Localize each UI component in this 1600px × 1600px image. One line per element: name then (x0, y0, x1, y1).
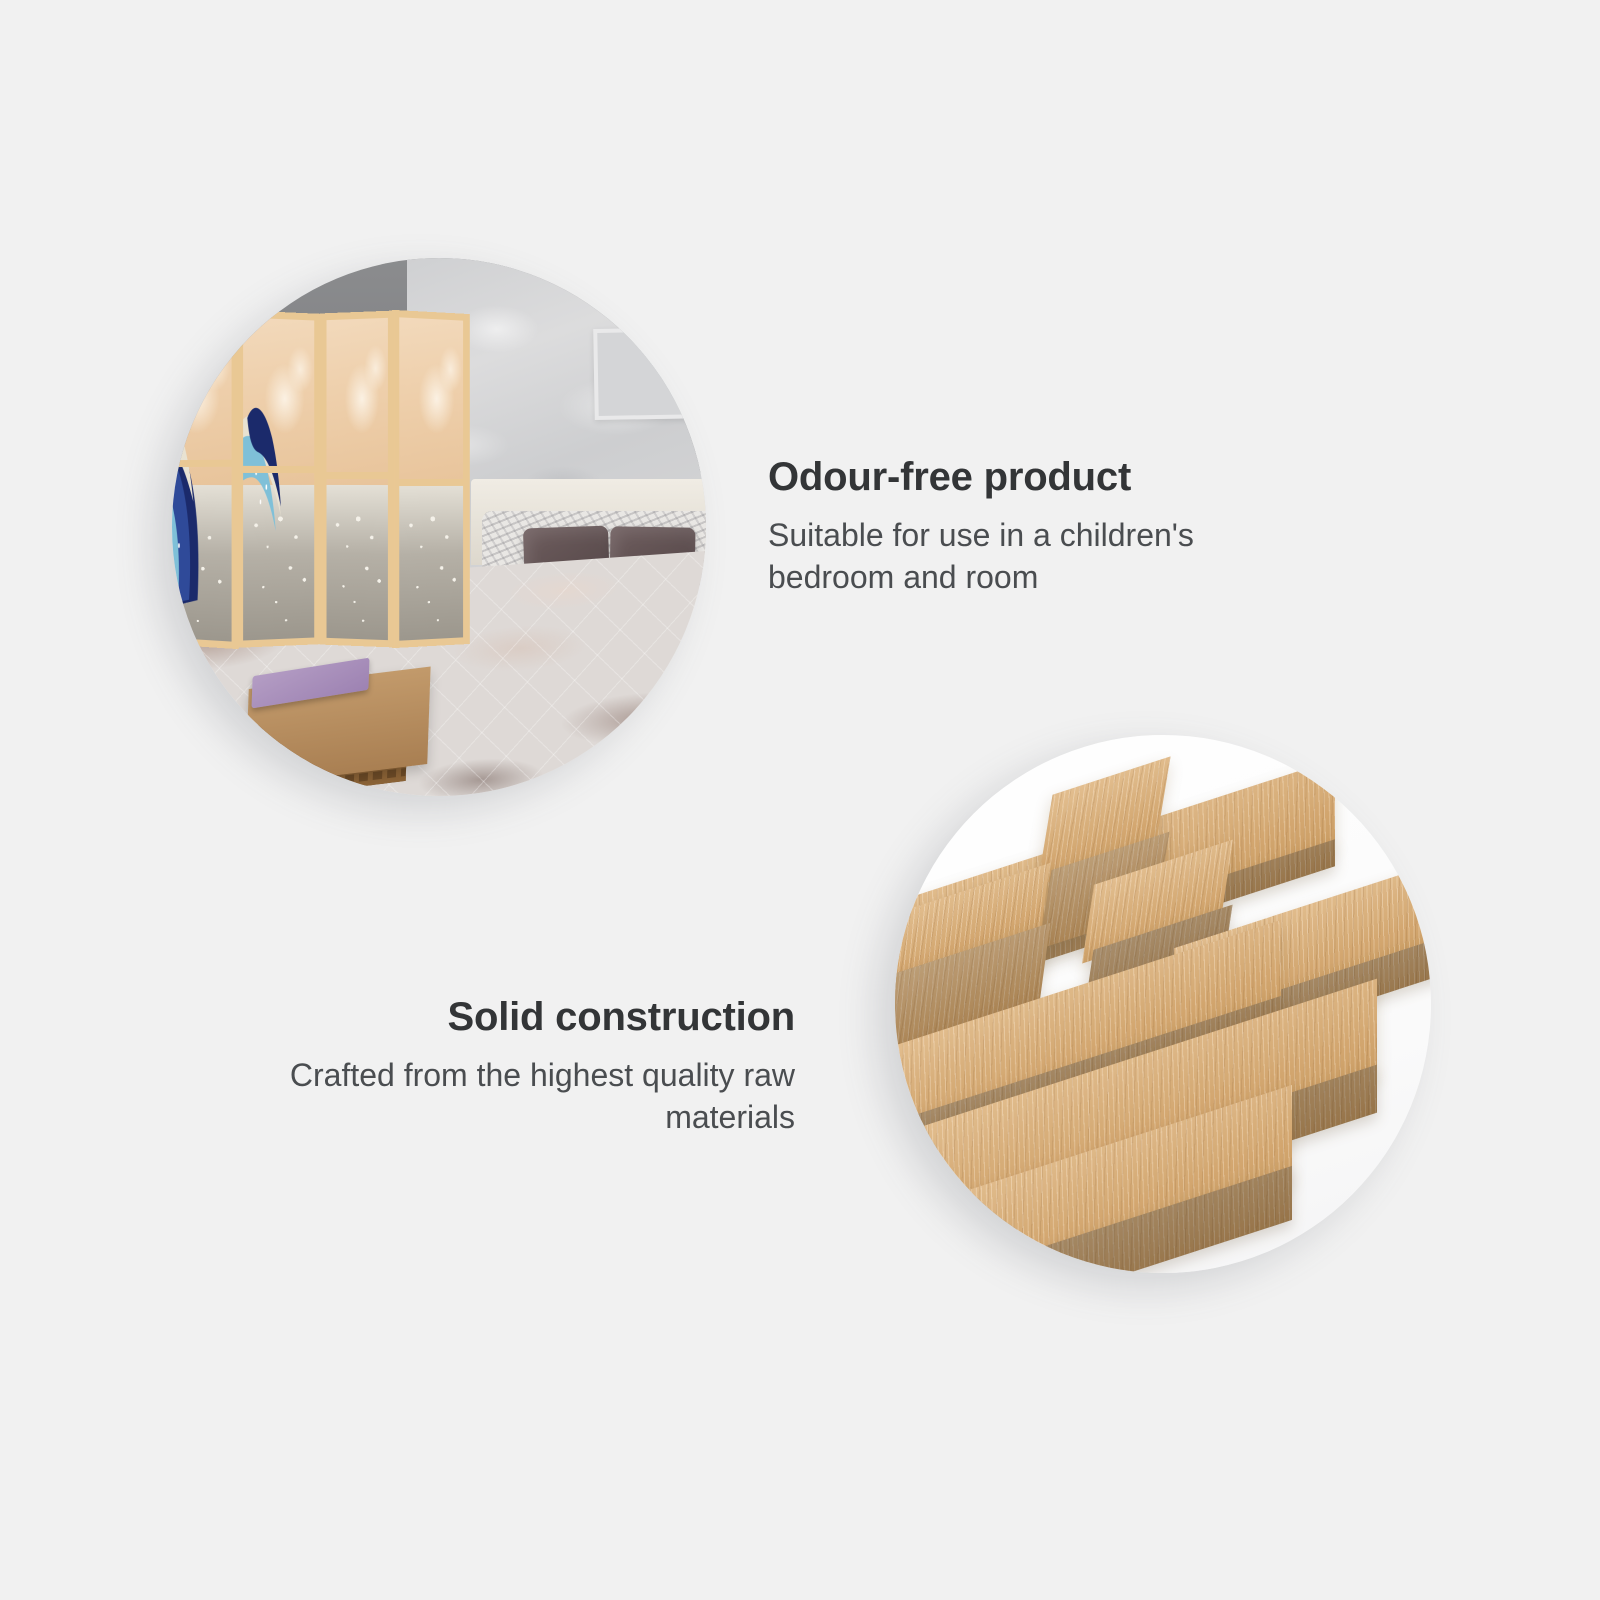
feature-solid-construction: Solid construction Crafted from the high… (265, 995, 795, 1138)
folding-room-divider (172, 312, 471, 646)
great-wave-art-icon (172, 342, 232, 641)
great-wave-art-icon (243, 343, 314, 640)
divider-panel-4 (392, 310, 470, 648)
feature-description: Crafted from the highest quality raw mat… (265, 1054, 795, 1138)
feature-description: Suitable for use in a children's bedroom… (768, 514, 1288, 598)
bedroom-scene (172, 258, 706, 796)
feature-odour-free: Odour-free product Suitable for use in a… (768, 455, 1288, 598)
bedroom-with-folding-screen-photo (172, 258, 706, 796)
feature-title: Solid construction (265, 995, 795, 1040)
wall-picture-frame (593, 327, 706, 420)
wooden-planks-photo (895, 735, 1431, 1273)
divider-panel-1 (172, 309, 239, 649)
divider-panel-3 (319, 310, 394, 647)
wood-scene (895, 735, 1431, 1273)
divider-panel-2 (236, 310, 321, 647)
feature-title: Odour-free product (768, 455, 1288, 500)
promo-feature-page: Odour-free product Suitable for use in a… (0, 0, 1600, 1600)
